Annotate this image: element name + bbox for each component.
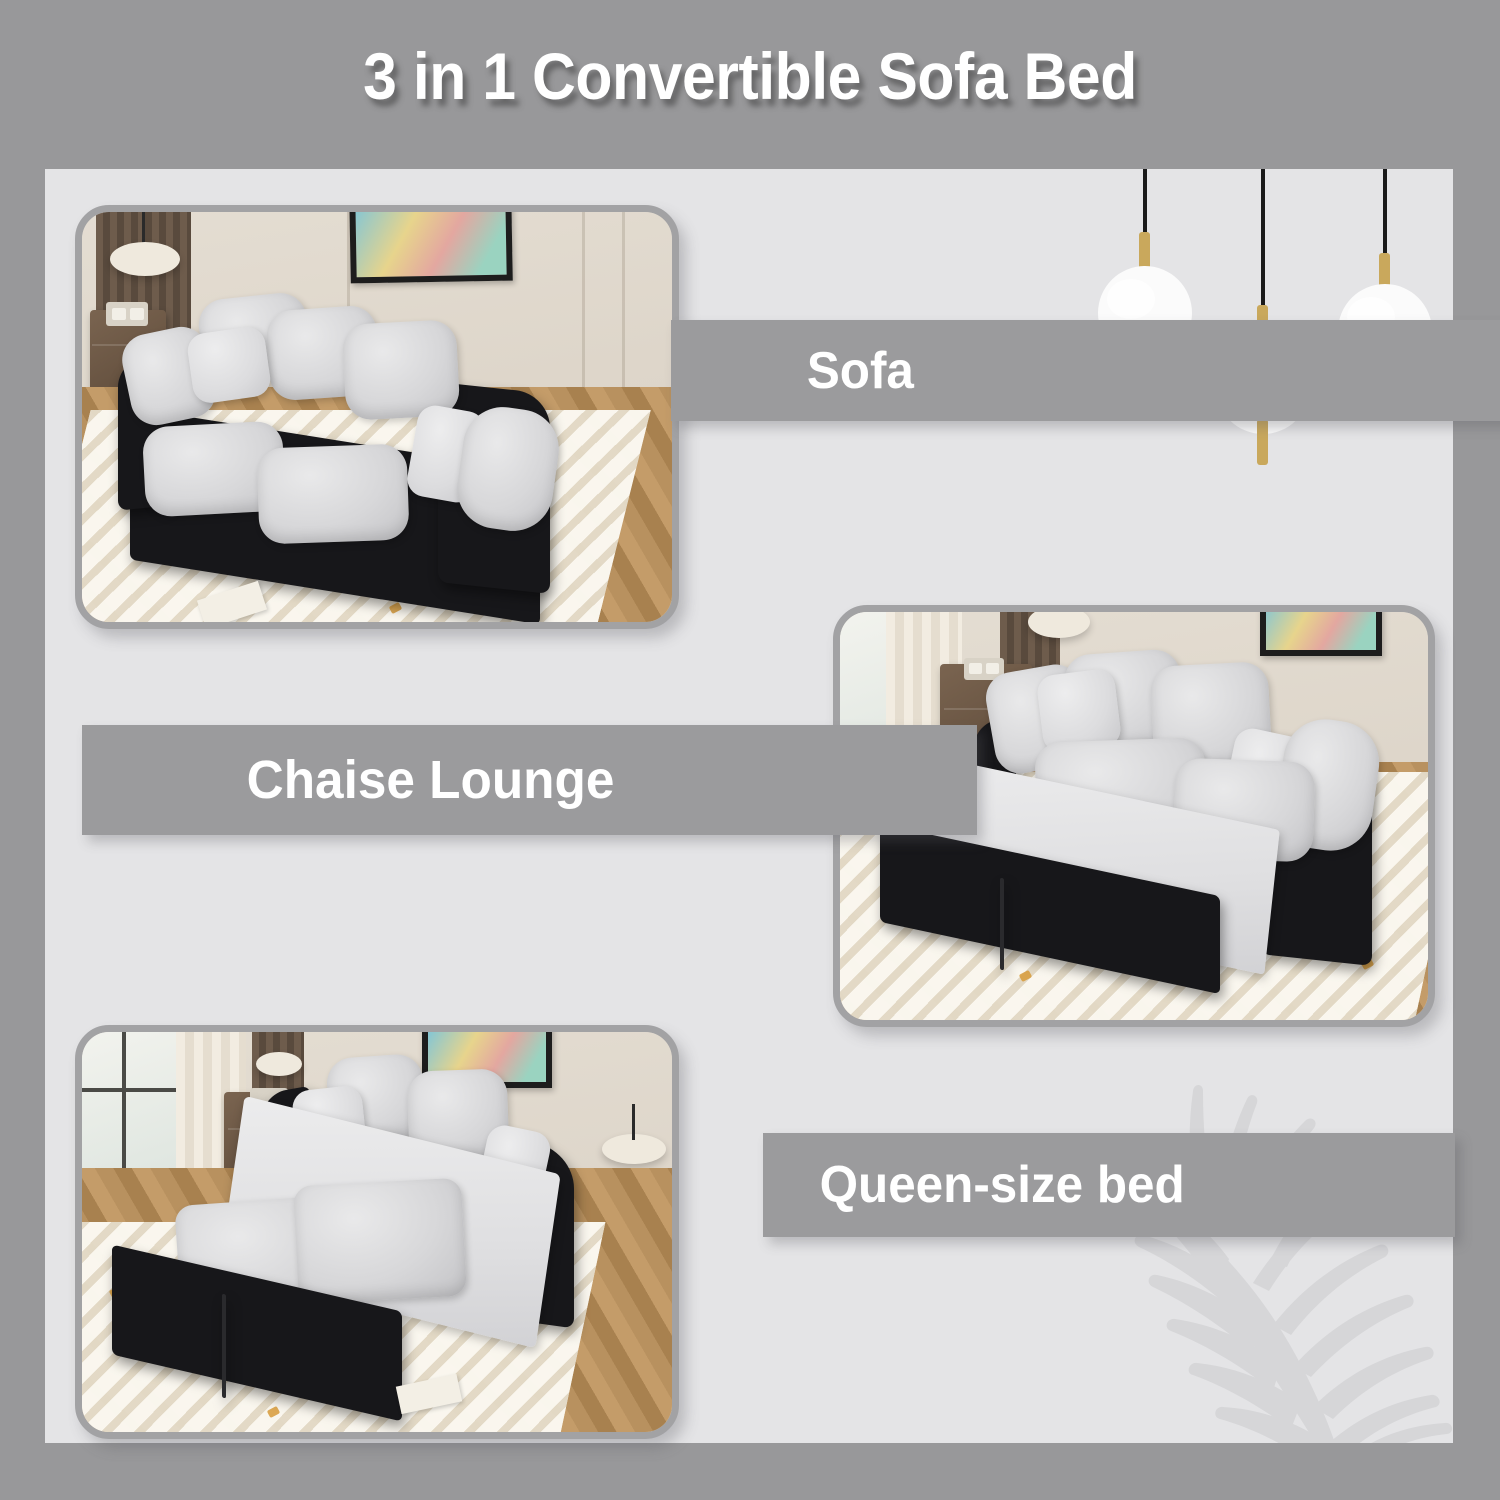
lamp-rod xyxy=(142,212,145,246)
label-text-queen-size-bed: Queen-size bed xyxy=(820,1155,1185,1215)
throw-pillow xyxy=(186,325,273,405)
label-bar-queen-size-bed: Queen-size bed xyxy=(763,1133,1455,1237)
sofa-scene xyxy=(82,212,672,622)
clock-face xyxy=(112,308,126,320)
bed-scene xyxy=(82,1032,672,1432)
product-infographic-poster: 3 in 1 Convertible Sofa Bed xyxy=(0,0,1500,1500)
label-text-sofa: Sofa xyxy=(807,341,914,401)
seat-cushion xyxy=(256,443,409,544)
clock-face xyxy=(986,663,999,674)
label-text-chaise-lounge: Chaise Lounge xyxy=(247,749,615,811)
label-bar-sofa: Sofa xyxy=(671,320,1500,421)
pendant-cord-icon xyxy=(1143,169,1147,235)
floor-lamp-shade xyxy=(110,242,180,276)
sofa-back-cushion xyxy=(342,319,461,421)
window xyxy=(82,1032,182,1170)
queen-bed-mode-photo[interactable] xyxy=(75,1025,679,1439)
sofa-mode-photo[interactable] xyxy=(75,205,679,629)
label-bar-chaise-lounge: Chaise Lounge xyxy=(82,725,977,835)
window-mullion xyxy=(82,1088,182,1092)
wall-molding xyxy=(582,212,585,412)
skirt-seam xyxy=(1000,878,1004,971)
skirt-seam xyxy=(222,1294,226,1399)
page-title: 3 in 1 Convertible Sofa Bed xyxy=(60,38,1440,114)
floor-lamp-shade xyxy=(256,1052,302,1076)
clock-face xyxy=(969,663,982,674)
wall-art xyxy=(1260,612,1382,656)
folded-mattress-cushion xyxy=(293,1178,467,1305)
clock-face xyxy=(130,308,144,320)
pendant-lamps-decoration xyxy=(1075,169,1453,469)
wall-art xyxy=(349,212,513,283)
window-mullion xyxy=(122,1032,126,1170)
lamp-rod xyxy=(632,1104,635,1140)
